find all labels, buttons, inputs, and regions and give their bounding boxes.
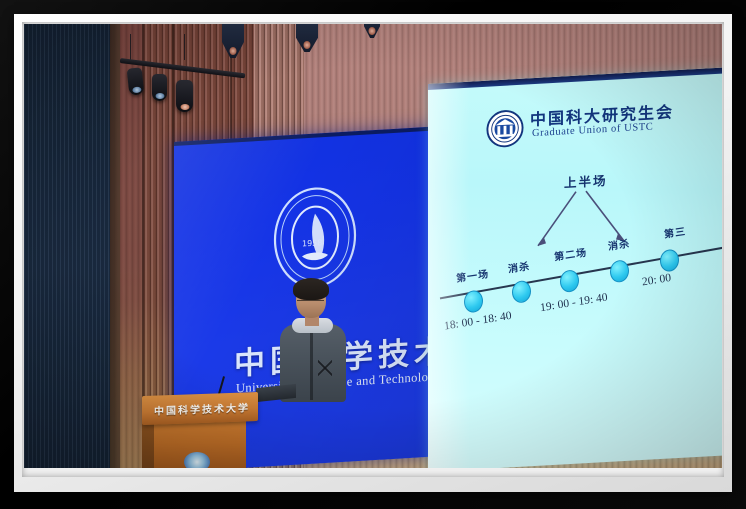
speaker-jacket-placket (310, 330, 313, 400)
screenshot-root: 1958 中国科学技术大学 University of Science and … (0, 0, 746, 509)
lamp-lens (155, 93, 164, 99)
stage-light-icon (127, 67, 145, 95)
lamp-lens (304, 41, 311, 49)
timeline-time-label: 20: 00 (641, 272, 671, 289)
podium-label: 中国科学技术大学 (154, 399, 250, 417)
lamp-lens (180, 104, 189, 110)
glasses-icon (297, 300, 324, 307)
timeline-time-label: 19: 00 - 19: 40 (540, 291, 609, 314)
timeline-event-label: 第二场 (553, 244, 587, 264)
timeline-node (512, 280, 531, 303)
timeline-node (560, 270, 579, 293)
timeline-node (610, 260, 629, 283)
light-cable (130, 34, 131, 62)
lamp-lens (230, 47, 237, 55)
timeline-event-label: 第三 (663, 223, 686, 241)
speaker-jacket-emblem (318, 360, 332, 376)
timeline-event-label: 消杀 (507, 257, 530, 275)
light-cable (184, 34, 185, 60)
timeline-node (660, 249, 679, 272)
stage-light-icon (152, 74, 167, 101)
graduate-union-logo-icon (486, 109, 524, 149)
lamp-lens (369, 27, 376, 35)
stage-photograph: 1958 中国科学技术大学 University of Science and … (24, 24, 722, 468)
podium-front-panel: 中国科学技术大学 (142, 392, 258, 425)
curtain-edge (110, 24, 120, 468)
podium-emblem-icon (184, 452, 210, 468)
speaker-hair (293, 278, 329, 300)
slide-glare (428, 82, 470, 468)
lamp-lens (132, 86, 142, 93)
stage-curtain (24, 24, 110, 468)
timeline-event-label: 消杀 (607, 235, 630, 253)
stage-light-icon (176, 80, 193, 112)
presentation-slide-screen: 中国科大研究生会 Graduate Union of USTC 上半场 第一场 … (428, 67, 722, 468)
